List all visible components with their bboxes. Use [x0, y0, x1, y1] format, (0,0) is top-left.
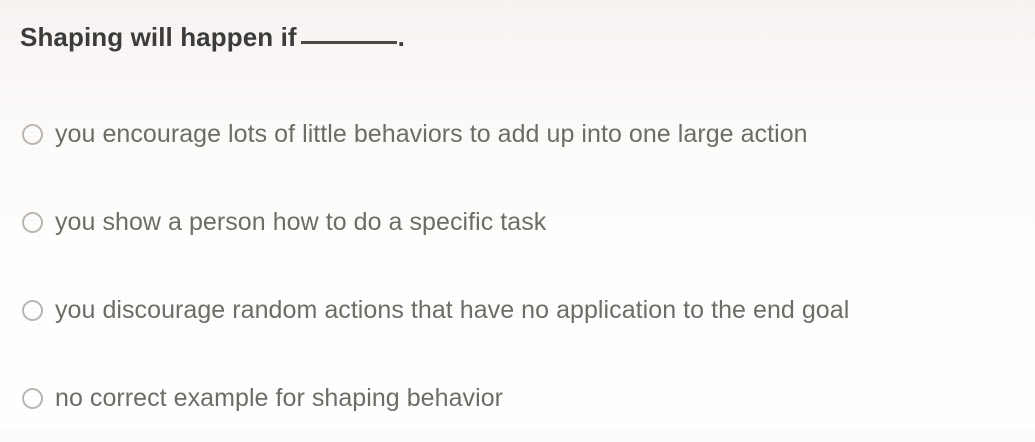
option-label-c: you discourage random actions that have …: [55, 295, 849, 325]
option-row-a[interactable]: you encourage lots of little behaviors t…: [0, 90, 1035, 178]
question-page: Shaping will happen if. you encourage lo…: [0, 0, 1035, 428]
option-row-d[interactable]: no correct example for shaping behavior: [0, 354, 1035, 442]
answer-options-list: you encourage lots of little behaviors t…: [0, 90, 1035, 442]
option-label-d: no correct example for shaping behavior: [55, 383, 503, 413]
question-suffix: .: [398, 22, 405, 52]
option-label-b: you show a person how to do a specific t…: [55, 207, 546, 237]
option-row-b[interactable]: you show a person how to do a specific t…: [0, 178, 1035, 266]
radio-button-icon-b[interactable]: [22, 212, 43, 233]
radio-button-icon-d[interactable]: [22, 388, 43, 409]
option-label-a: you encourage lots of little behaviors t…: [55, 119, 808, 149]
page-title: Shaping will happen if.: [20, 20, 405, 54]
radio-button-icon-c[interactable]: [22, 300, 43, 321]
radio-button-icon-a[interactable]: [22, 124, 43, 145]
question-prefix: Shaping will happen if: [20, 22, 297, 52]
option-row-c[interactable]: you discourage random actions that have …: [0, 266, 1035, 354]
answer-blank: [301, 41, 397, 44]
